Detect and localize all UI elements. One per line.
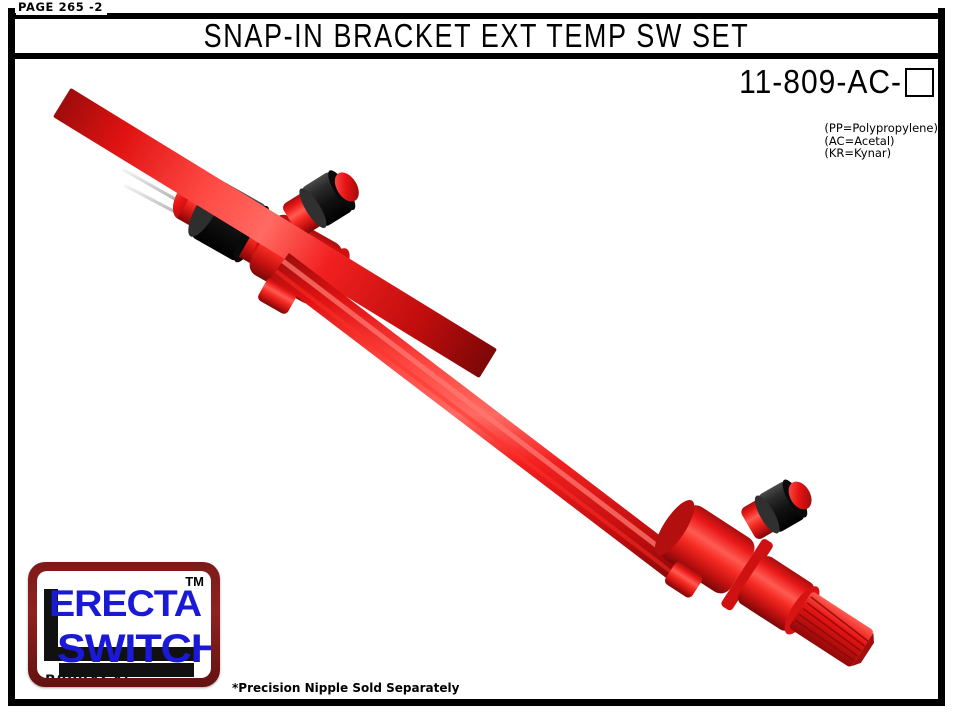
- page-number-label: PAGE 265 -2: [18, 2, 103, 14]
- upper-switch-head: [166, 172, 219, 229]
- main-pipe: [53, 88, 497, 378]
- material-legend-line-pp: (PP=Polypropylene): [824, 122, 938, 135]
- frame-right-border: [938, 8, 945, 706]
- material-legend: (PP=Polypropylene) (AC=Acetal) (KR=Kynar…: [824, 122, 938, 160]
- footnote-text: *Precision Nipple Sold Separately: [232, 682, 459, 694]
- lower-switch-assembly: [637, 488, 889, 696]
- main-pipe-span: [271, 253, 700, 590]
- frame-left-border: [8, 8, 15, 706]
- logo-text-erecta: ERECTA: [49, 585, 201, 622]
- logo-inner-panel: ERECTA SWITCH TM B809ACAS: [37, 571, 211, 678]
- upper-hex-nut: [182, 176, 275, 267]
- lower-side-port: [737, 472, 819, 545]
- upper-red-collar: [239, 211, 285, 268]
- page-title: SNAP-IN BRACKET EXT TEMP SW SET: [204, 20, 750, 53]
- lower-probe-barrel: [735, 553, 826, 639]
- upper-side-port: [279, 162, 368, 241]
- part-number-suffix-box: [905, 68, 934, 97]
- datasheet-page: PAGE 265 -2 SNAP-IN BRACKET EXT TEMP SW …: [0, 0, 960, 720]
- frame-bottom-border: [8, 699, 945, 706]
- lower-fluted-probe: [788, 591, 879, 671]
- part-number: 11-809-AC-: [739, 68, 934, 98]
- upper-tee-body: [235, 210, 357, 331]
- wire-leads: [124, 170, 198, 224]
- lower-flange-ring: [720, 538, 774, 612]
- title-underline-rule: [15, 53, 938, 59]
- material-legend-line-kr: (KR=Kynar): [824, 147, 938, 160]
- lower-tee-body: [637, 495, 759, 615]
- title-bar: SNAP-IN BRACKET EXT TEMP SW SET: [15, 19, 938, 53]
- erecta-switch-logo: ERECTA SWITCH TM B809ACAS: [28, 562, 220, 687]
- page-number-tab: PAGE 265 -2: [16, 0, 107, 15]
- logo-product-code: B809ACAS: [45, 674, 135, 678]
- part-number-text: 11-809-AC-: [739, 66, 902, 100]
- upper-switch-assembly: [151, 163, 357, 332]
- logo-text-switch: SWITCH: [57, 629, 211, 669]
